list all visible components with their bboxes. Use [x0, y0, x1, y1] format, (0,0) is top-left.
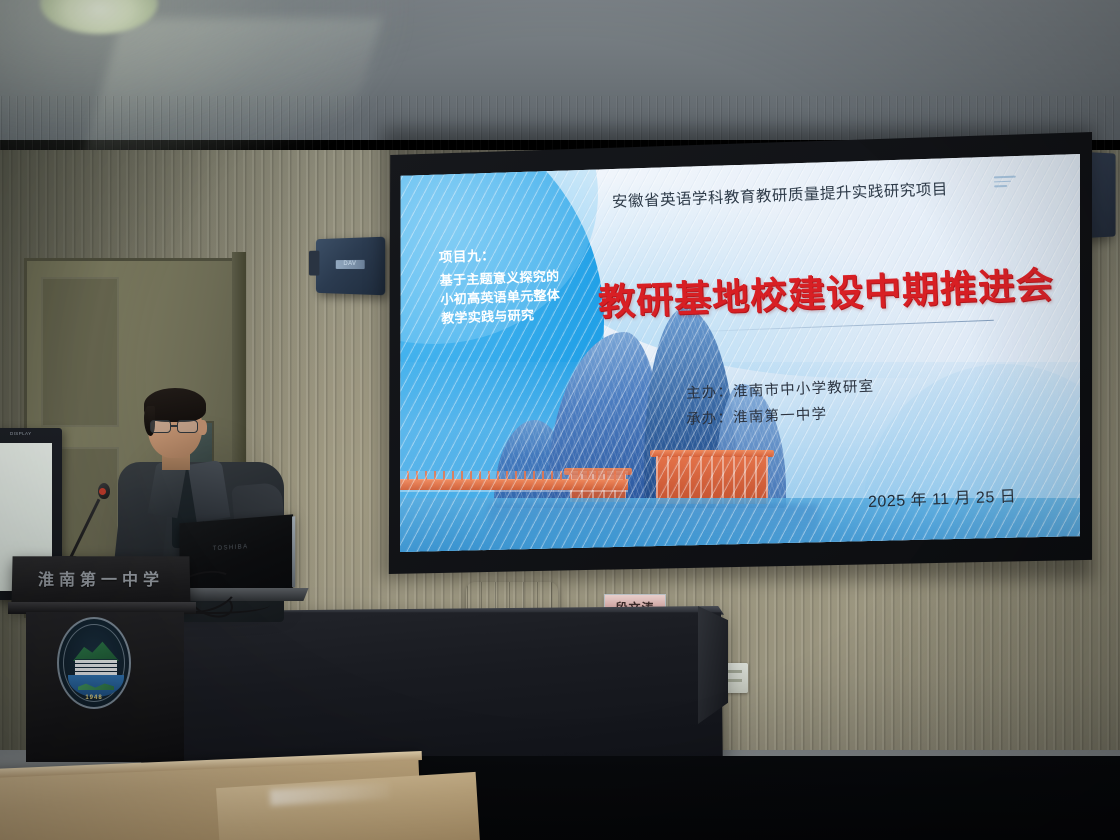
speaker-brand-badge: DAV — [336, 260, 365, 269]
laptop-brand-logo: TOSHIBA — [213, 544, 249, 552]
speaker-bracket-left — [309, 251, 320, 276]
door-panel-upper-left — [41, 277, 119, 427]
glasses-lens-left — [150, 420, 171, 433]
microphone-windscreen — [99, 488, 106, 495]
easel-label: DISPLAY — [10, 431, 31, 436]
school-crest-icon: 1948 — [57, 617, 131, 709]
conference-room-photo: DAV DISPLAY — [0, 0, 1120, 840]
hamburger-lines-icon — [994, 176, 1016, 189]
crest-building — [75, 659, 117, 676]
projection-screen[interactable]: 项目九： 基于主题意义探究的 小初高英语单元整体 教学实践与研究 安徽省英语学科… — [398, 154, 1080, 552]
foreground-dark-band — [398, 756, 1120, 840]
glasses-lens-right — [177, 420, 198, 433]
conference-table — [141, 612, 723, 774]
laptop-screen-edge — [292, 516, 295, 587]
glasses-bridge — [171, 425, 177, 427]
glasses-icon — [148, 420, 202, 434]
podium-nameplate: 淮南第一中学 — [26, 566, 176, 590]
slide-project-block: 项目九： 基于主题意义探究的 小初高英语单元整体 教学实践与研究 — [438, 239, 616, 328]
crest-year: 1948 — [59, 695, 129, 701]
wall-speaker-left: DAV — [316, 237, 385, 296]
